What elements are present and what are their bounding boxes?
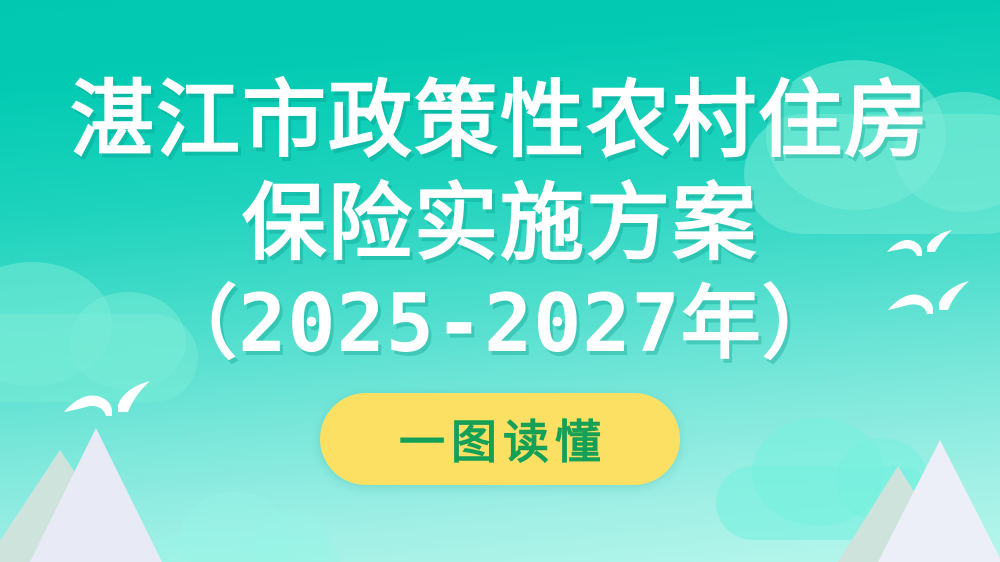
badge-container: 一图读懂 <box>320 393 680 485</box>
page-title: 湛江市政策性农村住房 保险实施方案 （2025-2027年） <box>0 76 1000 367</box>
title-line-3-year-range: （2025-2027年） <box>0 282 1000 367</box>
infographic-poster: 湛江市政策性农村住房 保险实施方案 （2025-2027年） 一图读懂 <box>0 0 1000 562</box>
read-infographic-button[interactable]: 一图读懂 <box>320 393 680 485</box>
title-line-2: 保险实施方案 <box>0 179 1000 268</box>
title-line-1: 湛江市政策性农村住房 <box>0 76 1000 165</box>
poster-content: 湛江市政策性农村住房 保险实施方案 （2025-2027年） 一图读懂 <box>0 0 1000 562</box>
